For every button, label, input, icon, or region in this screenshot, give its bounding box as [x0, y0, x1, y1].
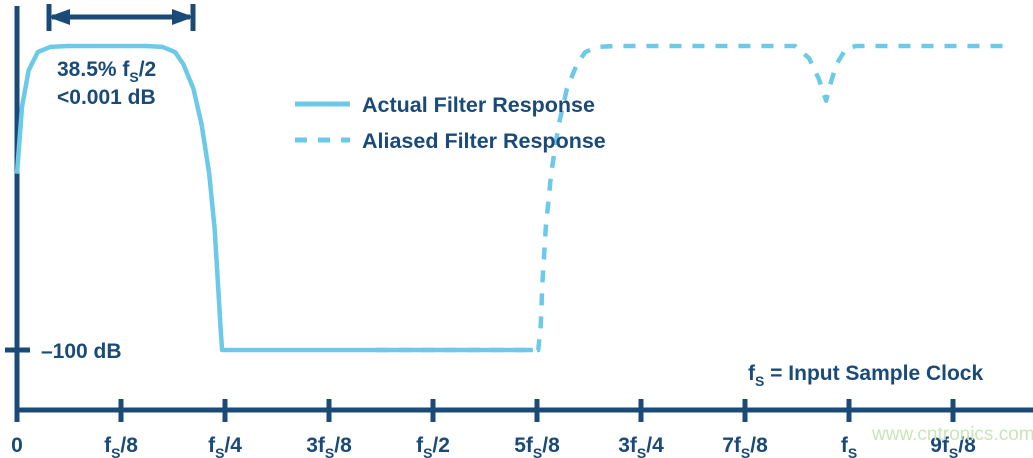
x-axis-tick-label: 7fS/8	[722, 434, 768, 458]
passband-ripple-label: <0.001 dB	[57, 86, 156, 109]
x-axis-tick-label: 5fS/8	[514, 434, 560, 458]
legend: Actual Filter Response Aliased Filter Re…	[295, 93, 606, 153]
fs-definition-label: fS = Input Sample Clock	[748, 362, 983, 389]
x-axis-tick-label: fS	[841, 434, 857, 458]
chart-svg: 0fS/8fS/43fS/8fS/25fS/83fS/47fS/8fS9fS/8…	[0, 0, 1033, 458]
x-axis-tick-label: fS/2	[416, 434, 450, 458]
x-axis-tick-label: fS/8	[104, 434, 138, 458]
x-axis-tick-labels: 0fS/8fS/43fS/8fS/25fS/83fS/47fS/8fS9fS/8	[11, 434, 976, 458]
x-axis-tick-label: 0	[11, 434, 23, 457]
watermark-text: www.cntronics.com	[871, 424, 1033, 445]
legend-label-aliased: Aliased Filter Response	[362, 129, 606, 153]
y-axis-minus100-label: –100 dB	[41, 340, 122, 363]
passband-percent-label: 38.5% fS/2	[57, 58, 156, 85]
filter-response-chart: 0fS/8fS/43fS/8fS/25fS/83fS/47fS/8fS9fS/8…	[0, 0, 1033, 458]
x-axis-tick-label: 3fS/4	[618, 434, 664, 458]
legend-label-actual: Actual Filter Response	[362, 93, 595, 117]
x-axis-tick-label: 3fS/8	[306, 434, 352, 458]
series-line-aliased-filter-response	[376, 46, 1005, 350]
data-series	[17, 46, 1005, 350]
passband-span-annotation	[48, 4, 194, 31]
x-axis-tick-label: fS/4	[208, 434, 242, 458]
